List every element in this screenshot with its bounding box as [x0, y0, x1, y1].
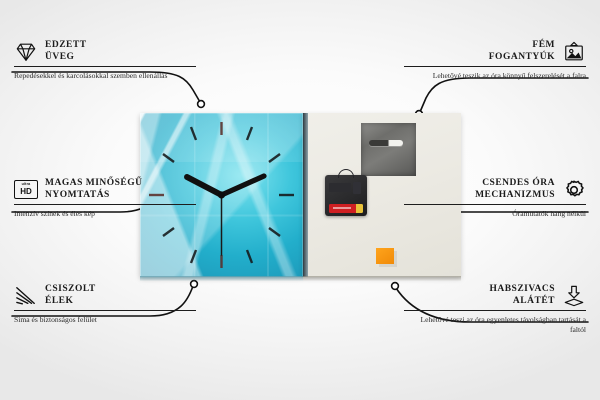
feature-title-line-1: MAGAS MINŐSÉGŰ: [45, 178, 143, 188]
feature-polished-edges: CSISZOLT ÉLEK Sima és biztonságos felüle…: [14, 284, 196, 325]
feature-subtitle: Repedésekkel és karcolásokkal szemben el…: [14, 71, 196, 81]
feature-divider: [404, 204, 586, 205]
feature-tempered-glass: EDZETT ÜVEG Repedésekkel és karcolásokka…: [14, 40, 196, 81]
feature-divider: [14, 310, 196, 311]
mechanism-hanging-loop: [338, 169, 354, 178]
feature-title-line-2: MECHANIZMUS: [475, 190, 555, 200]
feature-title-line-2: ÜVEG: [45, 52, 74, 62]
feature-subtitle: Sima és biztonságos felület: [14, 315, 196, 325]
feature-divider: [14, 204, 196, 205]
mechanism-detail-strip: [329, 183, 351, 192]
infographic-canvas: EDZETT ÜVEG Repedésekkel és karcolásokka…: [0, 0, 600, 400]
connector-dot-tempered-glass: [198, 101, 205, 108]
feature-title-line-2: NYOMTATÁS: [45, 190, 110, 200]
foam-spacer-pad: [376, 248, 394, 264]
feature-title-line-2: ÉLEK: [45, 296, 73, 306]
connector-metal-handles: [420, 78, 588, 112]
feature-subtitle: Lehetővé teszik az óra könnyű felszerelé…: [404, 71, 586, 81]
feature-subtitle: Óramutatók hang nélkül: [404, 209, 586, 219]
metal-hanger-plate: [361, 123, 416, 176]
feature-title-line-1: CSISZOLT: [45, 284, 96, 294]
feature-subtitle: Lehetővé teszi az óra egyenletes távolsá…: [404, 315, 586, 335]
hanger-slot: [369, 140, 403, 146]
feature-divider: [404, 310, 586, 311]
feature-title-line-1: CSENDES ÓRA: [482, 178, 555, 188]
clock-center-cap: [218, 191, 225, 198]
picture-hanger-icon: [562, 41, 586, 63]
aa-battery: [329, 204, 363, 213]
foam-pad-icon: [562, 285, 586, 307]
feature-metal-handles: FÉM FOGANTYÚK Lehetővé teszik az óra kön…: [404, 40, 586, 81]
feature-divider: [14, 66, 196, 67]
feature-title-line-1: HABSZIVACS: [489, 284, 555, 294]
feature-title-line-1: FÉM: [532, 40, 555, 50]
clock-minute-hand: [222, 176, 265, 195]
diamond-icon: [14, 41, 38, 63]
polished-edges-icon: [14, 285, 38, 307]
feature-subtitle: Intenzív színek és éles kép: [14, 209, 196, 219]
connector-dot-foam-pad: [392, 283, 399, 290]
feature-high-quality-print: ultra HD MAGAS MINŐSÉGŰ NYOMTATÁS Intenz…: [14, 178, 196, 219]
feature-divider: [404, 66, 586, 67]
feature-title-line-2: FOGANTYÚK: [489, 52, 555, 62]
feature-title-line-2: ALÁTÉT: [513, 296, 555, 306]
mechanism-detail-block: [353, 182, 361, 194]
ultra-hd-icon-main: HD: [20, 188, 32, 196]
feature-silent-mechanism: CSENDES ÓRA MECHANIZMUS Óramutatók hang …: [404, 178, 586, 219]
feature-title-line-1: EDZETT: [45, 40, 87, 50]
ultra-hd-icon: ultra HD: [14, 180, 38, 199]
gear-icon: [562, 179, 586, 201]
quartz-clock-mechanism: [325, 175, 367, 216]
feature-foam-pad: HABSZIVACS ALÁTÉT Lehetővé teszi az óra …: [404, 284, 586, 335]
